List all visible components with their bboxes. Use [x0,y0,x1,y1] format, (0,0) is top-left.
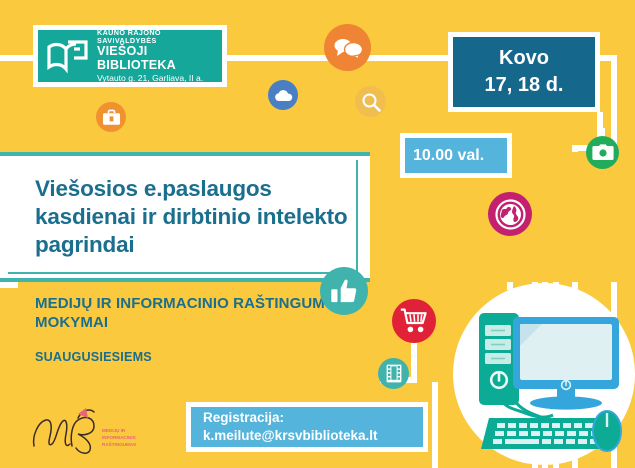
page-title: Viešosios e.paslaugos kasdienai ir dirbt… [35,175,365,259]
film-strip-icon [378,358,409,389]
subtitle-secondary: SUAUGUSIESIEMS [35,350,152,364]
library-logo-text: KAUNO RAJONO SAVIVALDYBĖS VIEŠOJI BIBLIO… [97,29,222,84]
date-box: Kovo 17, 18 d. [448,32,600,112]
speech-bubbles-icon [324,24,371,71]
desktop-computer-illustration [453,283,635,465]
magnifier-icon [355,86,386,117]
registration-box: Registracija: k.meilute@krsvbiblioteka.l… [186,402,428,452]
library-logo-line1: KAUNO RAJONO SAVIVALDYBĖS [97,29,222,45]
mr-project-logo: MEDIJŲ IR INFORMACINIS RAŠTINGUMAS [28,402,146,460]
camera-icon [586,136,619,169]
library-logo-line3: Vytauto g. 21, Garliava, II a. [97,74,222,83]
cloud-icon [268,80,298,110]
registration-email[interactable]: k.meilute@krsvbiblioteka.lt [191,427,423,445]
globe-icon [488,192,532,236]
registration-label: Registracija: [191,409,423,427]
subtitle-line1: MEDIJŲ IR INFORMACINIO RAŠTINGUMO MOKYMA… [35,295,337,331]
mr-caption-line1: MEDIJŲ IR [102,428,126,433]
date-line1: Kovo [453,45,595,72]
subtitle-primary: MEDIJŲ IR INFORMACINIO RAŠTINGUMO MOKYMA… [35,294,345,332]
shopping-cart-icon [392,299,436,343]
library-logo: KAUNO RAJONO SAVIVALDYBĖS VIEŠOJI BIBLIO… [33,25,227,87]
date-line2: 17, 18 d. [453,72,595,99]
time-text: 10.00 val. [405,147,507,165]
mr-caption-line3: RAŠTINGUMAS [102,440,136,447]
thumbs-up-icon [320,267,368,315]
time-box: 10.00 val. [400,133,512,178]
briefcase-icon [96,102,126,132]
library-logo-line2: VIEŠOJI BIBLIOTEKA [97,45,222,72]
poster-canvas: Viešosios e.paslaugos kasdienai ir dirbt… [0,0,635,468]
mr-caption-line2: INFORMACINIS [102,435,136,440]
open-book-icon [46,36,90,76]
